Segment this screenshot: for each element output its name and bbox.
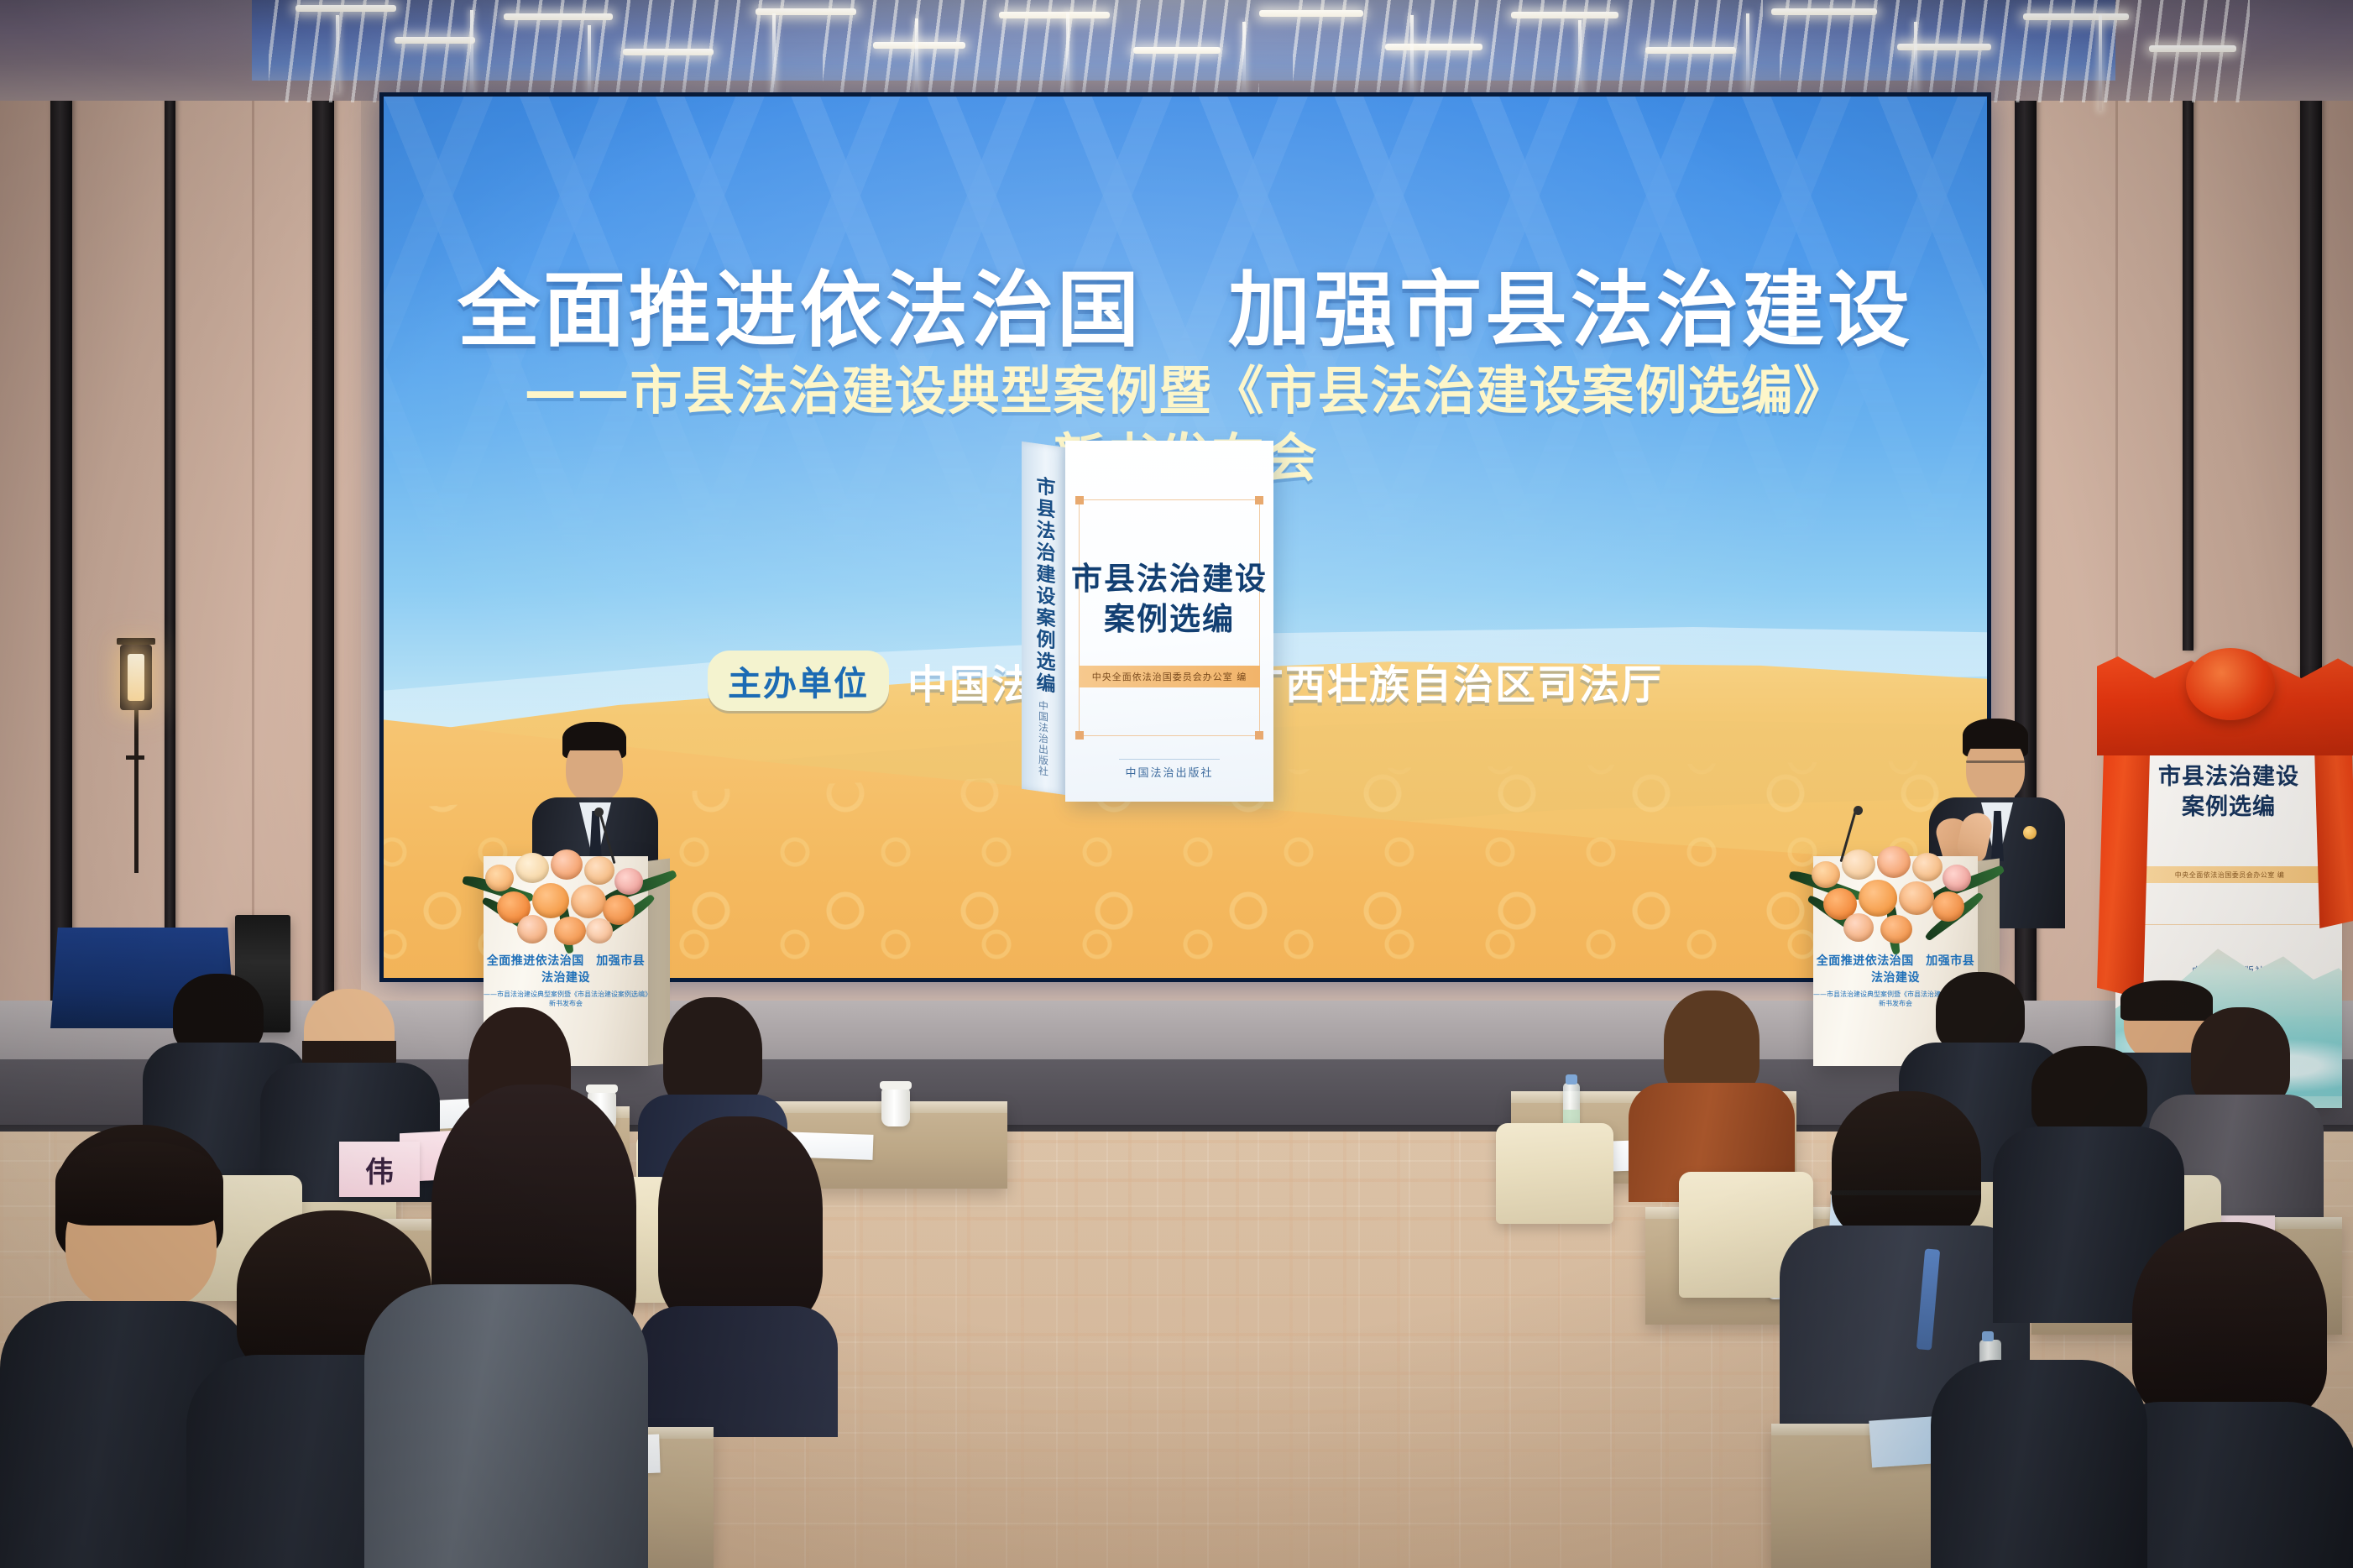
wall-sconce-lamp: [120, 645, 152, 710]
person-coat: [364, 1284, 648, 1568]
screen-book-band: 中央全面依法治国委员会办公室 编: [1079, 666, 1260, 687]
audience-person: [1629, 990, 1796, 1200]
bouquet-bloom: [614, 868, 643, 895]
person-hair-long: [2132, 1222, 2327, 1420]
pendant-light-rod: [915, 18, 918, 99]
person-suit: [1931, 1360, 2147, 1568]
person-hair-long: [658, 1116, 823, 1326]
name-card-text: 伟: [365, 1149, 394, 1190]
bouquet-bloom: [551, 849, 583, 880]
screen-book-render: 市县法治建设案例选编 中国法治出版社 市县法治建设 案例选编 中央全面依法治国委…: [1022, 441, 1273, 802]
book-publisher-rule: [1119, 759, 1220, 760]
person-hair: [1832, 1091, 1981, 1239]
screen-subtitle-line1: ——市县法治建设典型案例暨《市县法治建设案例选编》: [384, 348, 1987, 424]
audience-person: [638, 1116, 839, 1435]
pendant-light-bar: [1897, 44, 1991, 50]
pendant-light-bar: [1771, 8, 1877, 15]
pendant-light-bar: [623, 49, 714, 55]
screen-book-spine: 市县法治建设案例选编 中国法治出版社: [1022, 442, 1065, 795]
flower-bouquet-icon: [467, 831, 668, 949]
screen-book-publisher: 中国法治出版社: [1065, 764, 1273, 780]
podium-left-text: 全面推进依法治国 加强市县法治建设 ——市县法治建设典型案例暨《市县法治建设案例…: [484, 953, 648, 1009]
pendant-light-bar: [1385, 44, 1482, 50]
board-band: 中央全面依法治国委员会办公室 编: [2141, 866, 2319, 883]
organizer-badge: 主办单位: [708, 651, 889, 711]
pendant-light-bar: [756, 8, 856, 15]
bottle-cap: [1566, 1074, 1577, 1085]
bouquet-bloom: [532, 883, 569, 918]
pendant-light-bar: [1511, 12, 1618, 18]
pendant-light-rod: [1578, 20, 1582, 102]
wall-pillar: [312, 46, 334, 1020]
glasses-icon: [1966, 760, 2025, 763]
bouquet-bloom: [1842, 849, 1875, 880]
screen-book-editor: 中央全面依法治国委员会办公室 编: [1092, 670, 1247, 683]
pendant-light-rod: [336, 15, 339, 92]
book-corner-mark: [1075, 731, 1084, 740]
pendant-light-bar: [295, 5, 396, 12]
bouquet-bloom: [1932, 891, 1964, 922]
pendant-light-bar: [873, 42, 965, 49]
screen-book-cover: 市县法治建设 案例选编 中央全面依法治国委员会办公室 编 中国法治出版社: [1065, 441, 1273, 802]
bouquet-bloom: [1912, 853, 1943, 881]
pendant-light-bar: [395, 37, 475, 44]
board-decorative-border: [2139, 730, 2320, 925]
bouquet-bloom: [485, 865, 514, 891]
person-hair: [1664, 990, 1760, 1098]
book-corner-mark: [1075, 496, 1084, 504]
bouquet-bloom: [1812, 861, 1840, 888]
glasses-icon: [1830, 1190, 1981, 1195]
bouquet-bloom: [586, 918, 613, 943]
person-hair: [2031, 1046, 2147, 1138]
podium-left-line1: 全面推进依法治国 加强市县法治建设: [484, 953, 648, 987]
tea-cup-lid: [880, 1081, 912, 1090]
pendant-light-bar: [1259, 10, 1363, 17]
pendant-light-bar: [2149, 45, 2236, 52]
person-top: [638, 1306, 838, 1437]
flower-bouquet-icon: [1795, 829, 1996, 949]
wall-panel-seam: [252, 59, 254, 1016]
bouquet-bloom: [1943, 865, 1971, 891]
microphone-head-icon: [1854, 806, 1863, 815]
lapel-badge-icon: [2023, 826, 2037, 839]
book-corner-mark: [1255, 731, 1263, 740]
audience-person-foreground: [364, 1284, 650, 1568]
bouquet-bloom: [517, 915, 547, 943]
speaker-left-hair-top: [562, 729, 626, 750]
bouquet-bloom: [1877, 846, 1911, 878]
pendant-light-bar: [999, 12, 1110, 18]
bouquet-bloom: [1899, 881, 1934, 915]
red-ribbon-tail-left: [2097, 722, 2151, 999]
wall-pillar: [165, 46, 175, 1020]
bouquet-bloom: [1843, 913, 1874, 942]
person-hair: [2191, 1007, 2290, 1108]
screen-book-cover-title: 市县法治建设 案例选编: [1065, 558, 1273, 639]
wall-sconce-cap: [117, 638, 155, 645]
bouquet-bloom: [1859, 880, 1897, 917]
screen-book-spine-title: 市县法治建设案例选编: [1029, 474, 1058, 697]
speaker-right-hair-top: [1963, 727, 2028, 749]
bouquet-bloom: [554, 917, 586, 945]
pendant-light-rod: [2099, 15, 2102, 111]
person-hair-long: [663, 997, 762, 1110]
microphone-head-icon: [594, 808, 604, 817]
red-ribbon-flower: [2186, 648, 2275, 720]
board-editor-text: 中央全面依法治国委员会办公室 编: [2175, 870, 2285, 880]
bouquet-bloom: [584, 856, 614, 885]
audience-chair: [1496, 1123, 1613, 1224]
pendant-light-bar: [504, 13, 613, 20]
screen-book-spine-publisher: 中国法治出版社: [1037, 699, 1051, 777]
audience-person-foreground: [1931, 1360, 2149, 1568]
podium-left-line2: ——市县法治建设典型案例暨《市县法治建设案例选编》: [484, 990, 648, 1000]
pendant-light-bar: [2023, 13, 2129, 20]
tea-cup-icon: [881, 1088, 910, 1126]
bottle-cap: [1982, 1331, 1994, 1341]
wall-sconce-arm: [126, 755, 144, 760]
bouquet-bloom: [1880, 915, 1912, 943]
board-title: 市县法治建设 案例选编: [2115, 762, 2342, 823]
wall-pillar: [50, 46, 72, 1020]
pendant-light-bar: [1645, 47, 1736, 54]
bouquet-bloom: [515, 853, 549, 883]
pendant-light-bar: [1133, 47, 1221, 54]
organizer-names: 中国法治出版社 广西壮族自治区司法厅: [907, 651, 1663, 710]
book-corner-mark: [1255, 496, 1263, 504]
screen-main-title: 全面推进依法治国 加强市县法治建设: [384, 243, 1987, 363]
wall-sconce-glass: [128, 654, 144, 701]
conference-photo-scene: 全面推进依法治国 加强市县法治建设 ——市县法治建设典型案例暨《市县法治建设案例…: [0, 0, 2353, 1568]
bouquet-bloom: [571, 885, 606, 918]
person-hair: [1936, 972, 2025, 1053]
wall-pillar: [2183, 46, 2194, 651]
